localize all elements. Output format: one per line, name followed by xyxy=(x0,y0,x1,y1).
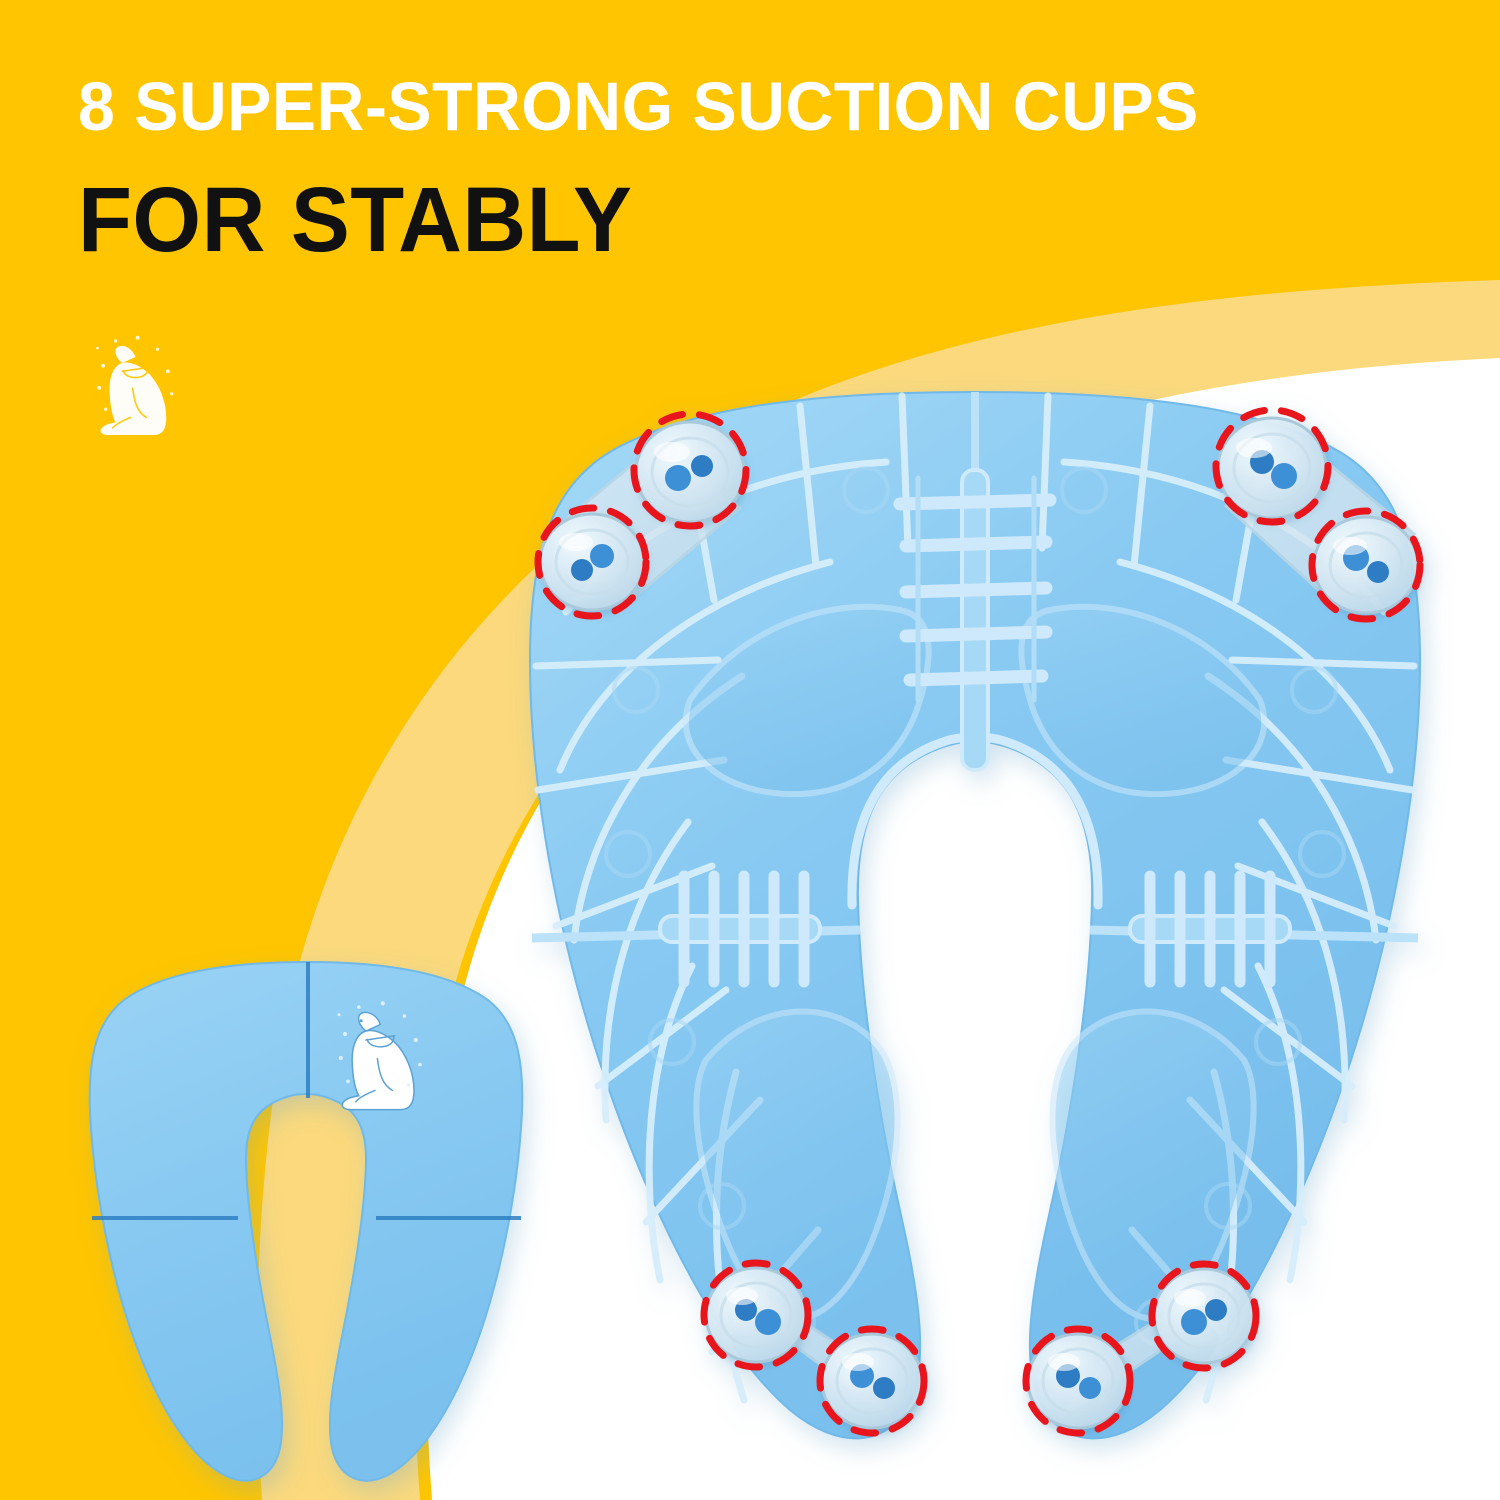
scene-svg xyxy=(0,0,1500,1500)
product-marketing-canvas: 8 SUPER-STRONG SUCTION CUPS FOR STABLY xyxy=(0,0,1500,1500)
hinge-finger xyxy=(900,500,1050,504)
polar-bear-logo-svg xyxy=(76,330,196,440)
right-side-hinge xyxy=(1130,876,1290,982)
suction-cup xyxy=(540,514,644,610)
polar-bear-logo xyxy=(76,330,196,440)
hinge-finger xyxy=(906,632,1046,636)
hinge-finger xyxy=(910,676,1042,680)
hinge-finger xyxy=(906,542,1046,546)
suction-cup xyxy=(1314,517,1418,613)
suction-cup xyxy=(706,1268,806,1362)
suction-cup xyxy=(822,1334,922,1428)
suction-cup xyxy=(1028,1334,1128,1428)
hinge-finger xyxy=(906,588,1046,592)
suction-cup xyxy=(1154,1269,1254,1363)
